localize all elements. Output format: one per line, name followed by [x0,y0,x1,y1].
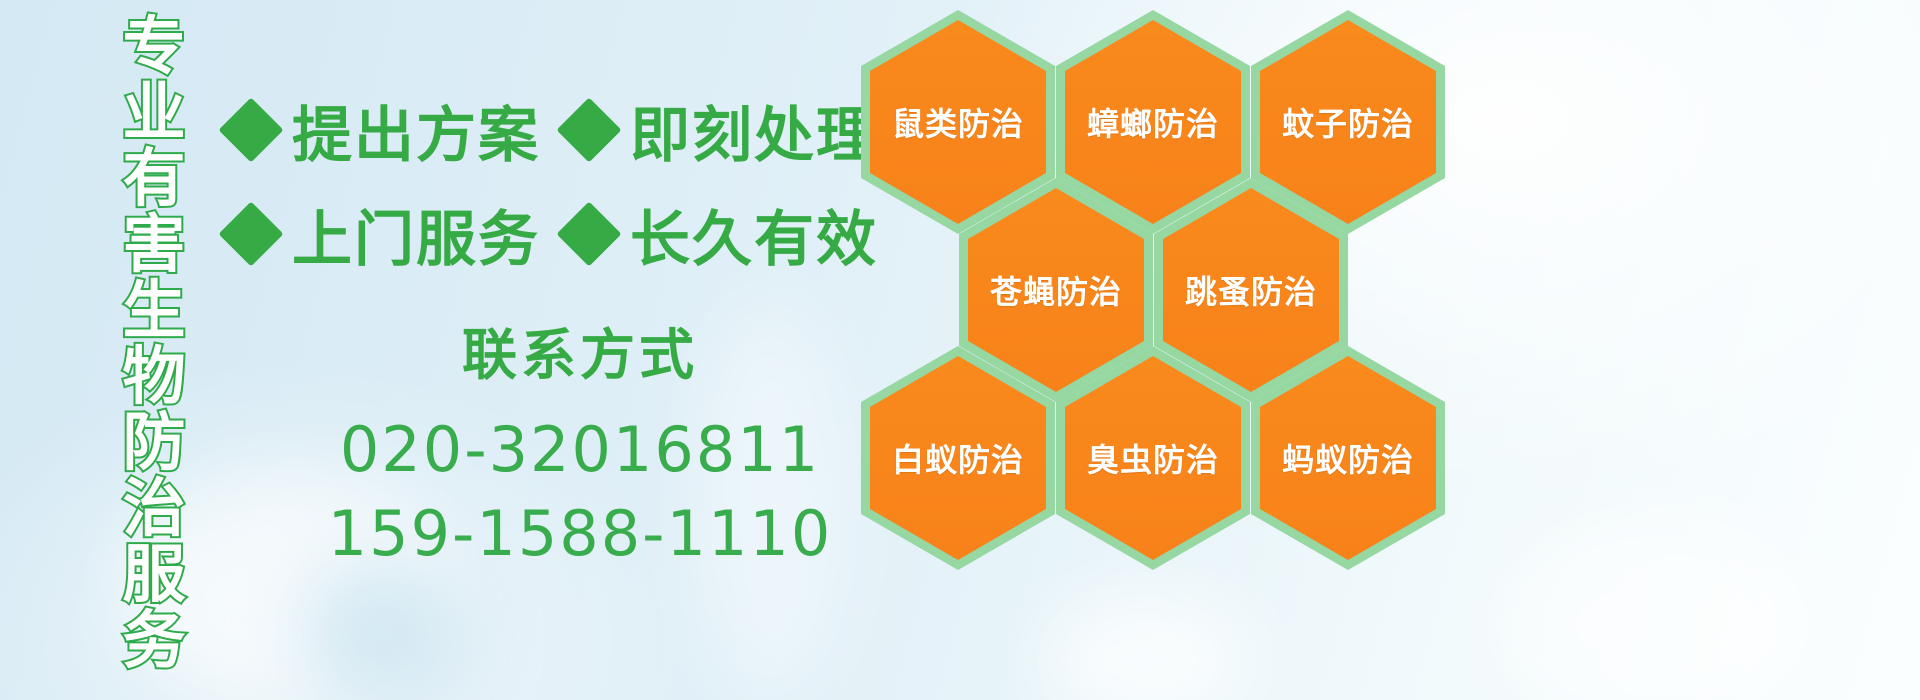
phone-number-landline[interactable]: 020-32016811 [300,408,860,492]
feature-label: 长久有效 [630,191,878,278]
headline-char: 服 [123,542,186,608]
headline-char: 务 [123,608,186,674]
headline-char: 专 [123,14,186,80]
service-label: 鼠类防治 [892,99,1024,145]
feature-row: 提出方案 即刻处理 [228,78,868,182]
headline-char: 物 [123,344,186,410]
headline-char: 防 [123,410,186,476]
contact-block: 联系方式 020-32016811 159-1588-1110 [300,310,860,576]
feature-item-proposal: 提出方案 [228,87,540,174]
headline-char: 治 [123,476,186,542]
service-label: 苍蝇防治 [990,267,1122,313]
feature-item-onsite: 上门服务 [228,191,540,278]
background-glow-4 [1500,520,1820,700]
service-label: 白蚁防治 [892,435,1024,481]
service-label: 蚂蚁防治 [1282,435,1414,481]
feature-item-immediate: 即刻处理 [566,87,878,174]
service-label: 蟑螂防治 [1087,99,1219,145]
vertical-headline: 专 业 有 害 生 物 防 治 服 务 [108,14,200,574]
phone-number-mobile[interactable]: 159-1588-1110 [300,492,860,576]
feature-label: 上门服务 [292,191,540,278]
promo-banner: 专 业 有 害 生 物 防 治 服 务 提出方案 即刻处理 上门服务 [0,0,1920,700]
feature-row: 上门服务 长久有效 [228,182,868,286]
service-label: 臭虫防治 [1087,435,1219,481]
feature-label: 即刻处理 [630,87,878,174]
diamond-bullet-icon [556,97,621,162]
service-label: 跳蚤防治 [1185,267,1317,313]
diamond-bullet-icon [218,97,283,162]
diamond-bullet-icon [556,201,621,266]
diamond-bullet-icon [218,201,283,266]
headline-char: 业 [123,80,186,146]
feature-list: 提出方案 即刻处理 上门服务 长久有效 [228,78,868,286]
contact-title: 联系方式 [300,310,860,390]
headline-char: 有 [123,146,186,212]
service-label: 蚊子防治 [1282,99,1414,145]
service-honeycomb: 鼠类防治 蟑螂防治 蚊子防治 苍蝇防治 跳蚤防治 白蚁防治 臭虫防治 蚂蚁 [855,0,1475,700]
background-glow-2 [300,560,470,700]
headline-char: 生 [123,278,186,344]
headline-char: 害 [123,212,186,278]
feature-label: 提出方案 [292,87,540,174]
feature-item-longlasting: 长久有效 [566,191,878,278]
